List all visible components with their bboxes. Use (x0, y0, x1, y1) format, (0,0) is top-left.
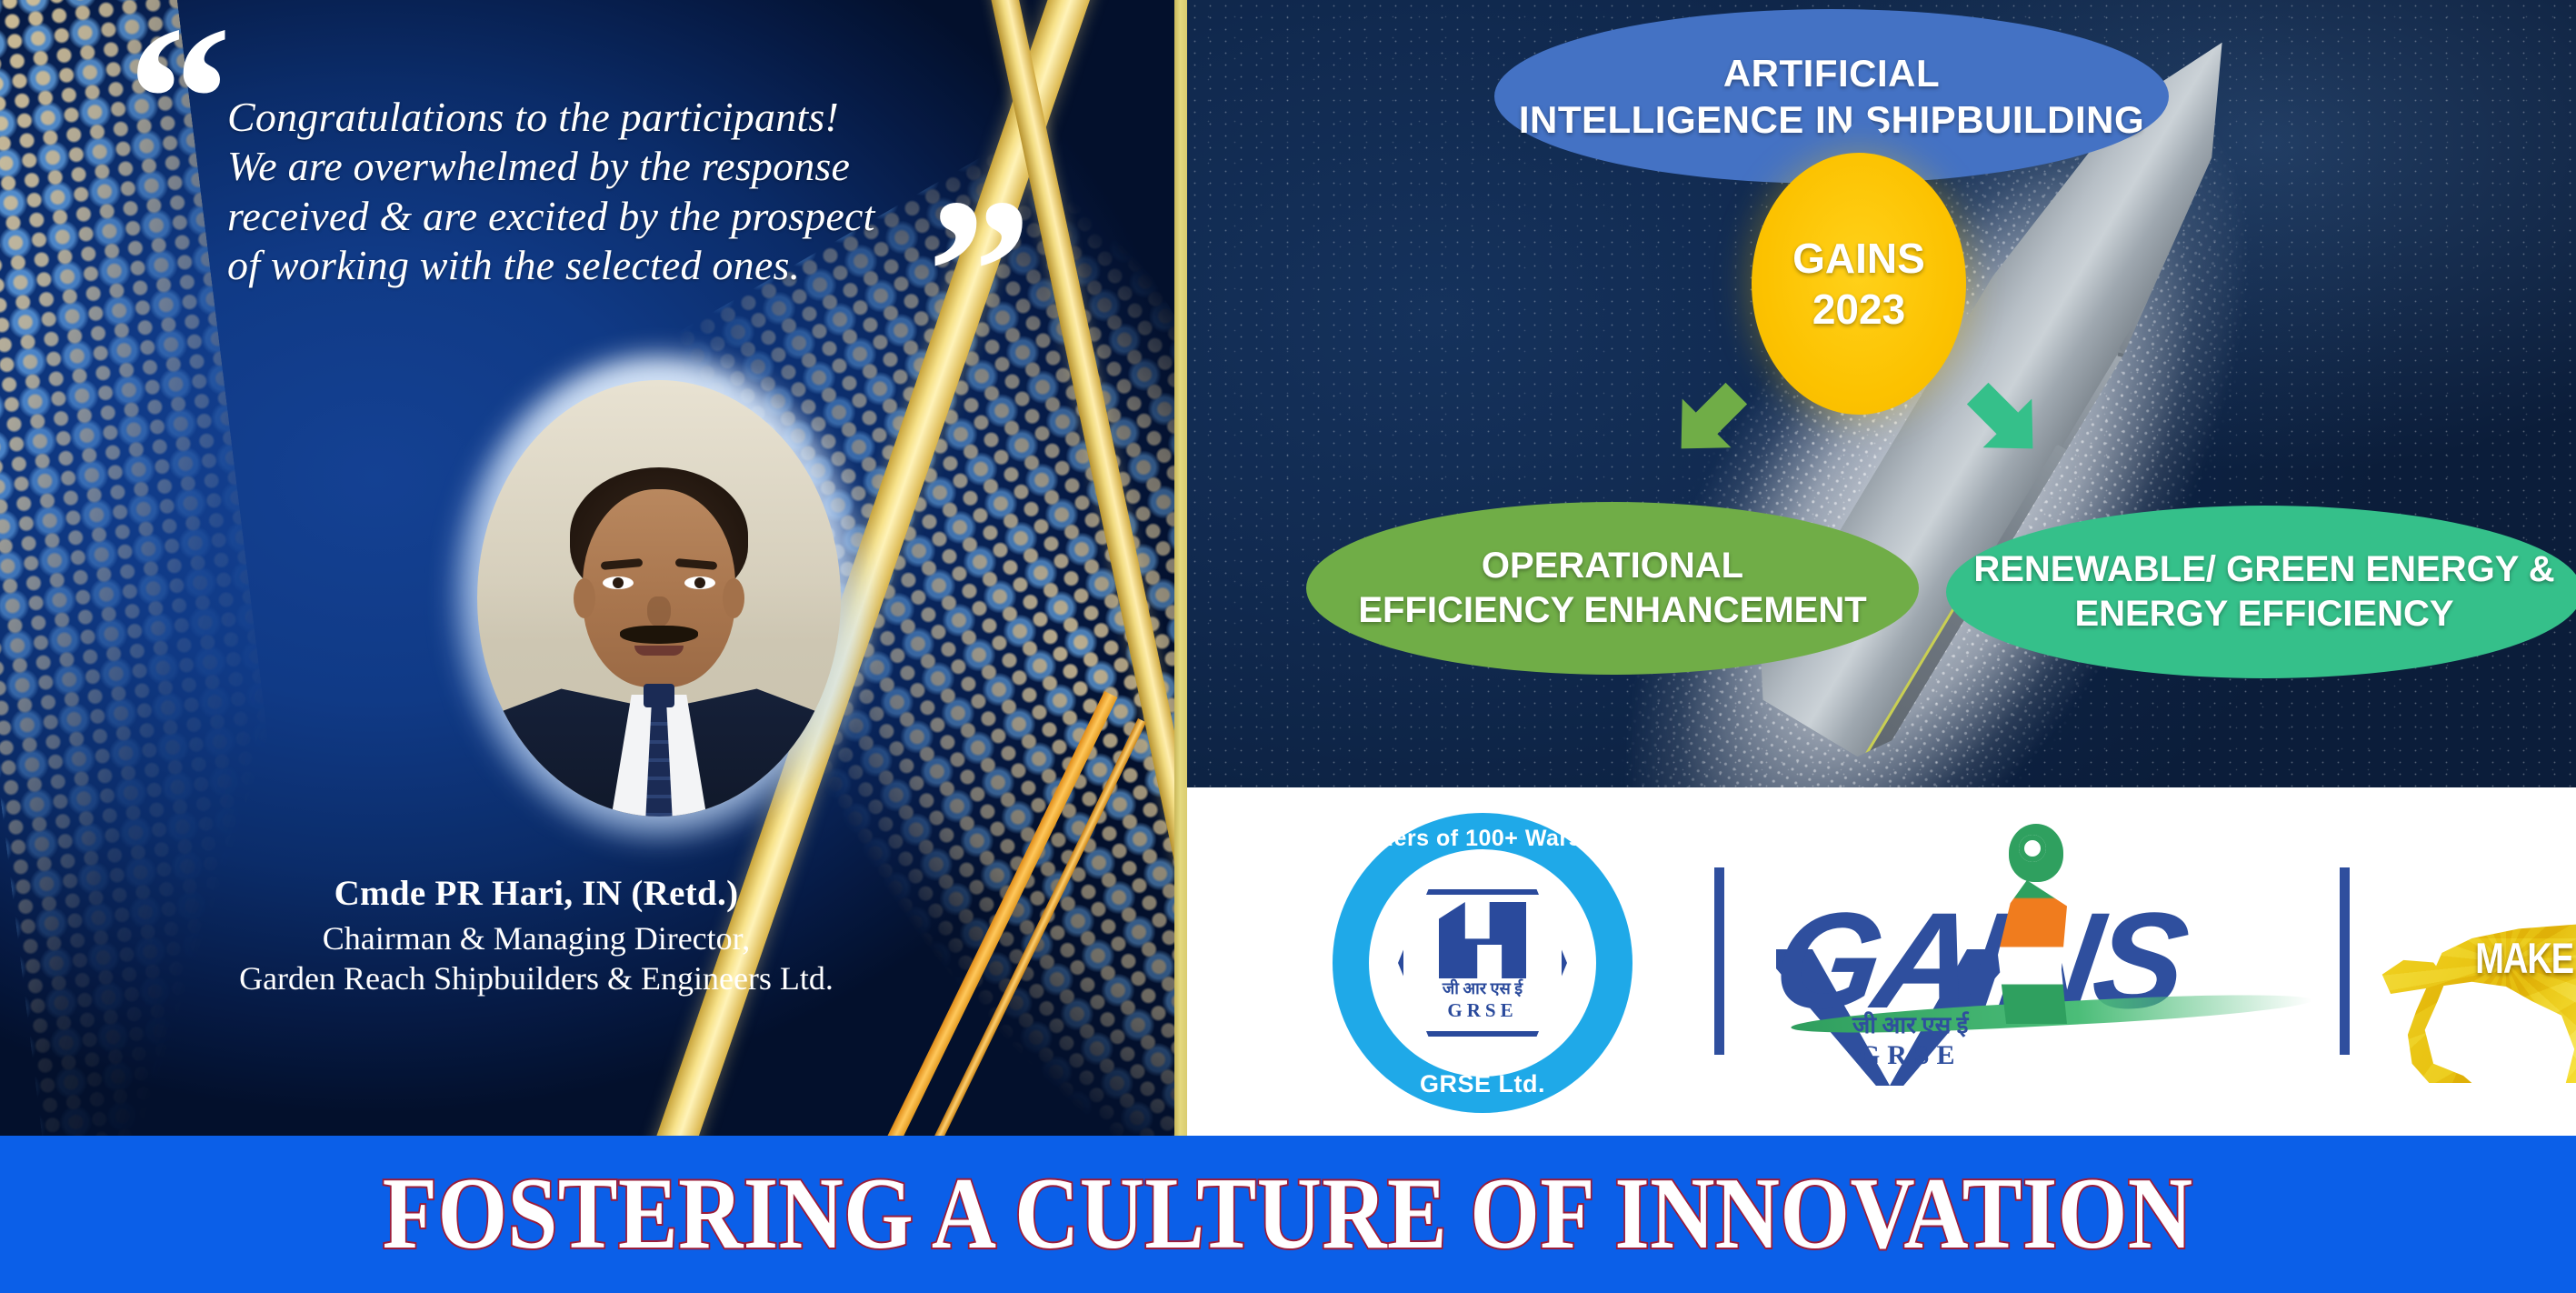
portrait-face (583, 489, 735, 687)
logo-divider-1 (1714, 867, 1724, 1055)
gains-figure-icon (1992, 824, 2072, 1024)
make-in-india-text: MAKE IN INDIA (2458, 936, 2576, 985)
person-role: Chairman & Managing Director, (0, 919, 1073, 957)
quote-text: Congratulations to the participants! We … (227, 93, 1027, 290)
portrait-ear-right (723, 578, 744, 618)
quote-line-2: We are overwhelmed by the response (227, 142, 1027, 191)
logo-panel: Builders of 100+ Warships जी आर एस ई GRS… (1187, 787, 2576, 1136)
quote-open-icon: “ (127, 36, 232, 162)
portrait-brow-left (601, 558, 644, 570)
grse-seal-logo[interactable]: Builders of 100+ Warships जी आर एस ई GRS… (1333, 813, 1632, 1113)
gains-abbr-text: GRSE (1852, 1040, 1968, 1071)
node-gains-center[interactable]: GAINS 2023 (1752, 153, 1966, 415)
grse-seal-inner: जी आर एस ई GRSE (1369, 849, 1596, 1077)
node-operational-efficiency[interactable]: OPERATIONAL EFFICIENCY ENHANCEMENT (1306, 502, 1919, 675)
quote-panel: “ Congratulations to the participants! W… (0, 0, 1174, 1136)
portrait-pupil-left (613, 577, 624, 588)
logo-divider-2 (2340, 867, 2350, 1055)
node-operational-label: OPERATIONAL EFFICIENCY ENHANCEMENT (1358, 544, 1866, 633)
gains-hindi-text: जी आर एस ई (1852, 1007, 1968, 1040)
portrait-moustache (620, 626, 698, 644)
grse-glyph-icon (1439, 902, 1526, 978)
gains-wordmark-logo[interactable]: GAINS जी आर एस ई GRSE (1769, 829, 2332, 1093)
diagram-panel: ▼ ▼ ARTIFICIAL INTELLIGENCE IN SHIPBUILD… (1187, 0, 2576, 787)
portrait-nose (647, 596, 671, 627)
grse-hindi-text: जी आर एस ई (1443, 977, 1523, 999)
grse-seal-top-text: Builders of 100+ Warships (1333, 826, 1632, 852)
banner-canvas: “ Congratulations to the participants! W… (0, 0, 2576, 1293)
portrait-brow-right (675, 558, 718, 570)
gear-icon (2019, 835, 2046, 862)
gains-center-title: GAINS (1792, 233, 1925, 284)
node-renewable-label: RENEWABLE/ GREEN ENERGY & ENERGY EFFICIE… (1973, 547, 2554, 636)
person-name: Cmde PR Hari, IN (Retd.) (0, 873, 1073, 914)
portrait (477, 380, 841, 817)
node-renewable-energy[interactable]: RENEWABLE/ GREEN ENERGY & ENERGY EFFICIE… (1946, 506, 2576, 678)
portrait-eye-left (603, 576, 634, 589)
figure-body-tricolor (1998, 880, 2067, 1024)
grse-seal-bottom-text: GRSE Ltd. (1333, 1070, 1632, 1098)
banner-title: FOSTERING A CULTURE OF INNOVATION (383, 1156, 2193, 1273)
grse-abbr-text: GRSE (1447, 999, 1517, 1022)
portrait-eye-right (684, 576, 715, 589)
bottom-banner: FOSTERING A CULTURE OF INNOVATION (0, 1136, 2576, 1293)
person-info: Cmde PR Hari, IN (Retd.) Chairman & Mana… (0, 873, 1073, 997)
gains-center-year: 2023 (1792, 284, 1925, 335)
grse-hexagon-mark: जी आर एस ई GRSE (1398, 889, 1567, 1037)
gold-divider (1174, 0, 1187, 1136)
portrait-mouth (634, 646, 684, 656)
node-ai-label: ARTIFICIAL INTELLIGENCE IN SHIPBUILDING (1519, 50, 2144, 143)
quote-close-icon: ” (927, 209, 1032, 335)
portrait-ear-left (574, 578, 595, 618)
person-organization: Garden Reach Shipbuilders & Engineers Lt… (0, 959, 1073, 997)
quote-line-4: of working with the selected ones. (227, 241, 1027, 290)
make-in-india-logo[interactable]: MAKE IN INDIA (2378, 842, 2576, 1083)
portrait-photo (477, 380, 841, 817)
quote-line-3: received & are excited by the prospect (227, 192, 1027, 241)
gains-sublabel: जी आर एस ई GRSE (1852, 1007, 1968, 1071)
quote-line-1: Congratulations to the participants! (227, 93, 1027, 142)
portrait-tie-knot (644, 684, 674, 707)
portrait-pupil-right (694, 577, 705, 588)
